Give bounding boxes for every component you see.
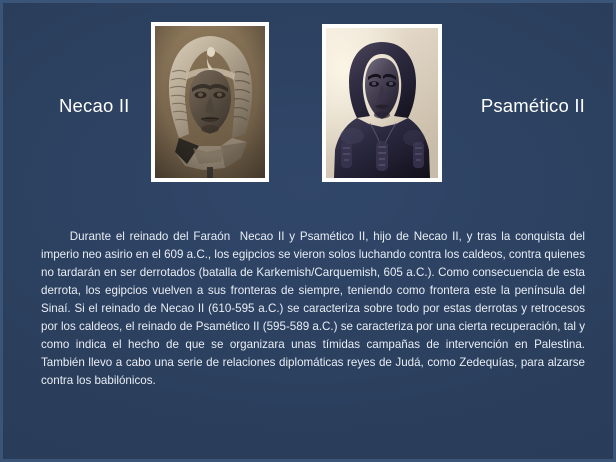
- body-paragraph: Durante el reinado del Faraón Necao II y…: [41, 210, 585, 408]
- photo-necao-ii: [151, 22, 269, 182]
- pharaoh-name-necao-ii: Necao II: [59, 95, 130, 117]
- psametico-ii-statue-image: [326, 28, 438, 178]
- necao-ii-bust-image: [155, 26, 265, 178]
- body-paragraph-text: Durante el reinado del Faraón Necao II y…: [41, 230, 588, 387]
- pharaoh-name-psametico-ii: Psamético II: [481, 95, 585, 117]
- slide-background: Necao II Psamético II: [3, 3, 613, 459]
- photo-psametico-ii: [322, 24, 442, 182]
- presentation-slide: Necao II Psamético II: [0, 0, 616, 462]
